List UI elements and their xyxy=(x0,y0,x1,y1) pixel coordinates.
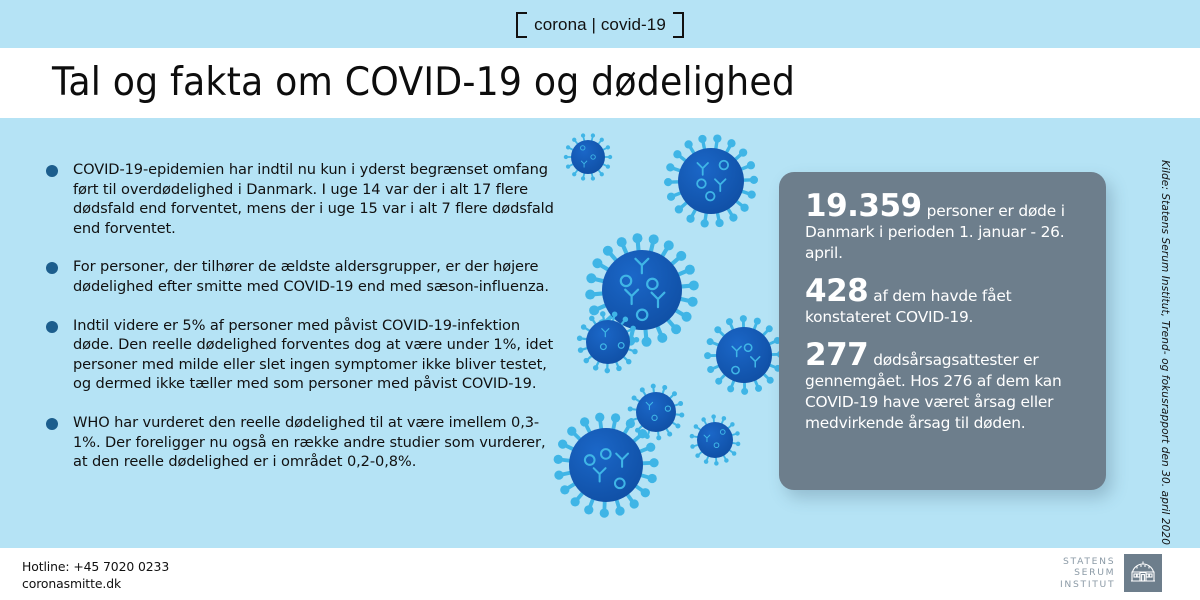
stat-line: 19.359personer er døde i Danmark i perio… xyxy=(805,196,1086,264)
website-link[interactable]: coronasmitte.dk xyxy=(22,575,169,592)
list-item: WHO har vurderet den reelle dødelighed t… xyxy=(46,413,566,472)
bracket-bottom-right-icon xyxy=(673,18,684,38)
list-item: For personer, der tilhører de ældste ald… xyxy=(46,257,566,296)
stat-number: 277 xyxy=(805,337,868,373)
stat-block: 19.359personer er døde i Danmark i perio… xyxy=(805,196,1086,264)
footer-white-band xyxy=(0,548,1200,600)
bullet-text: WHO har vurderet den reelle dødelighed t… xyxy=(73,413,558,472)
bullet-text: Indtil videre er 5% af personer med påvi… xyxy=(73,316,558,394)
bullet-list: COVID-19-epidemien har indtil nu kun i y… xyxy=(46,160,566,491)
list-item: Indtil videre er 5% af personer med påvi… xyxy=(46,316,566,394)
page-title: Tal og fakta om COVID-19 og dødelighed xyxy=(52,60,795,105)
hotline-text: Hotline: +45 7020 0233 xyxy=(22,558,169,575)
statistics-panel: 19.359personer er døde i Danmark i perio… xyxy=(779,172,1106,490)
ssi-logo: STATENS SERUM INSTITUT xyxy=(1060,554,1162,592)
stat-line: 428af dem havde fået konstateret COVID-1… xyxy=(805,281,1086,328)
tag-label: corona | covid-19 xyxy=(534,15,666,35)
bullet-dot-icon xyxy=(46,165,58,177)
list-item: COVID-19-epidemien har indtil nu kun i y… xyxy=(46,160,566,238)
stat-number: 428 xyxy=(805,273,868,309)
bullet-text: COVID-19-epidemien har indtil nu kun i y… xyxy=(73,160,558,238)
ssi-logo-line-1: STATENS xyxy=(1060,556,1115,568)
stat-block: 277dødsårsagsattester er gennemgået. Hos… xyxy=(805,345,1086,434)
ssi-building-icon xyxy=(1124,554,1162,592)
bullet-dot-icon xyxy=(46,418,58,430)
stat-number: 19.359 xyxy=(805,188,922,224)
footer-contact: Hotline: +45 7020 0233 coronasmitte.dk xyxy=(22,558,169,592)
ssi-logo-text: STATENS SERUM INSTITUT xyxy=(1060,556,1115,591)
stat-block: 428af dem havde fået konstateret COVID-1… xyxy=(805,281,1086,328)
corona-covid-tag: corona | covid-19 xyxy=(0,12,1200,38)
infographic-poster: corona | covid-19 Tal og fakta om COVID-… xyxy=(0,0,1200,600)
tag-bracket-frame: corona | covid-19 xyxy=(516,12,684,38)
stat-line: 277dødsårsagsattester er gennemgået. Hos… xyxy=(805,345,1086,434)
bullet-dot-icon xyxy=(46,321,58,333)
bullet-dot-icon xyxy=(46,262,58,274)
bullet-text: For personer, der tilhører de ældste ald… xyxy=(73,257,558,296)
ssi-logo-line-2: SERUM xyxy=(1060,567,1115,579)
bracket-bottom-left-icon xyxy=(516,18,527,38)
source-credit: Kilde: Statens Serum Institut, Trend- og… xyxy=(1159,160,1171,520)
ssi-logo-line-3: INSTITUT xyxy=(1060,579,1115,591)
